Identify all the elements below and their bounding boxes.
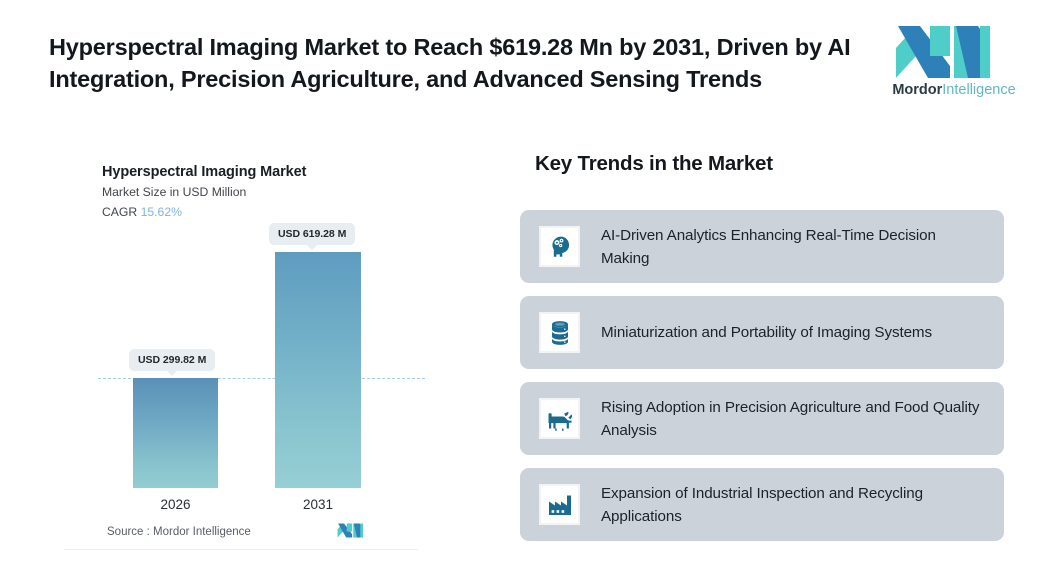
market-chart-card: Hyperspectral Imaging Market Market Size…: [64, 140, 418, 550]
trend-card-industrial-inspection[interactable]: Expansion of Industrial Inspection and R…: [520, 468, 1004, 541]
bar-2026: [133, 378, 218, 488]
trend-card-label: Expansion of Industrial Inspection and R…: [601, 482, 984, 528]
x-axis-label-2026: 2026: [133, 497, 218, 512]
factory-icon: [539, 484, 580, 525]
cow-livestock-icon: [539, 398, 580, 439]
brand-logo: MordorIntelligence: [884, 22, 1024, 108]
bar-value-label-2031: USD 619.28 M: [269, 223, 355, 245]
source-logo-icon: [337, 523, 363, 543]
trend-card-label: Miniaturization and Portability of Imagi…: [601, 321, 932, 344]
x-axis-label-2031: 2031: [275, 497, 361, 512]
brand-wordmark: MordorIntelligence: [884, 82, 1024, 98]
trend-card-label: AI-Driven Analytics Enhancing Real-Time …: [601, 224, 984, 270]
database-stack-icon: [539, 312, 580, 353]
page-header: Hyperspectral Imaging Market to Reach $6…: [0, 0, 1056, 118]
brand-word-bold: Mordor: [892, 82, 942, 98]
bar-2031: [275, 252, 361, 488]
key-trends-panel: Key Trends in the Market AI-Driven Analy…: [520, 140, 1010, 560]
key-trends-title: Key Trends in the Market: [535, 152, 773, 176]
trend-card-label: Rising Adoption in Precision Agriculture…: [601, 396, 984, 442]
key-trends-list: AI-Driven Analytics Enhancing Real-Time …: [520, 210, 1010, 554]
chart-source: Source : Mordor Intelligence: [107, 526, 251, 538]
trend-card-precision-agriculture[interactable]: Rising Adoption in Precision Agriculture…: [520, 382, 1004, 455]
bar-chart-plot: USD 299.82 M USD 619.28 M 2026 2031: [64, 140, 418, 550]
trend-card-ai-analytics[interactable]: AI-Driven Analytics Enhancing Real-Time …: [520, 210, 1004, 283]
page-title: Hyperspectral Imaging Market to Reach $6…: [49, 31, 864, 95]
brand-word-light: Intelligence: [942, 82, 1015, 98]
mordor-intelligence-logo-mark-icon: [894, 26, 990, 83]
trend-card-miniaturization[interactable]: Miniaturization and Portability of Imagi…: [520, 296, 1004, 369]
bar-value-label-2026: USD 299.82 M: [129, 349, 215, 371]
ai-head-gears-icon: [539, 226, 580, 267]
